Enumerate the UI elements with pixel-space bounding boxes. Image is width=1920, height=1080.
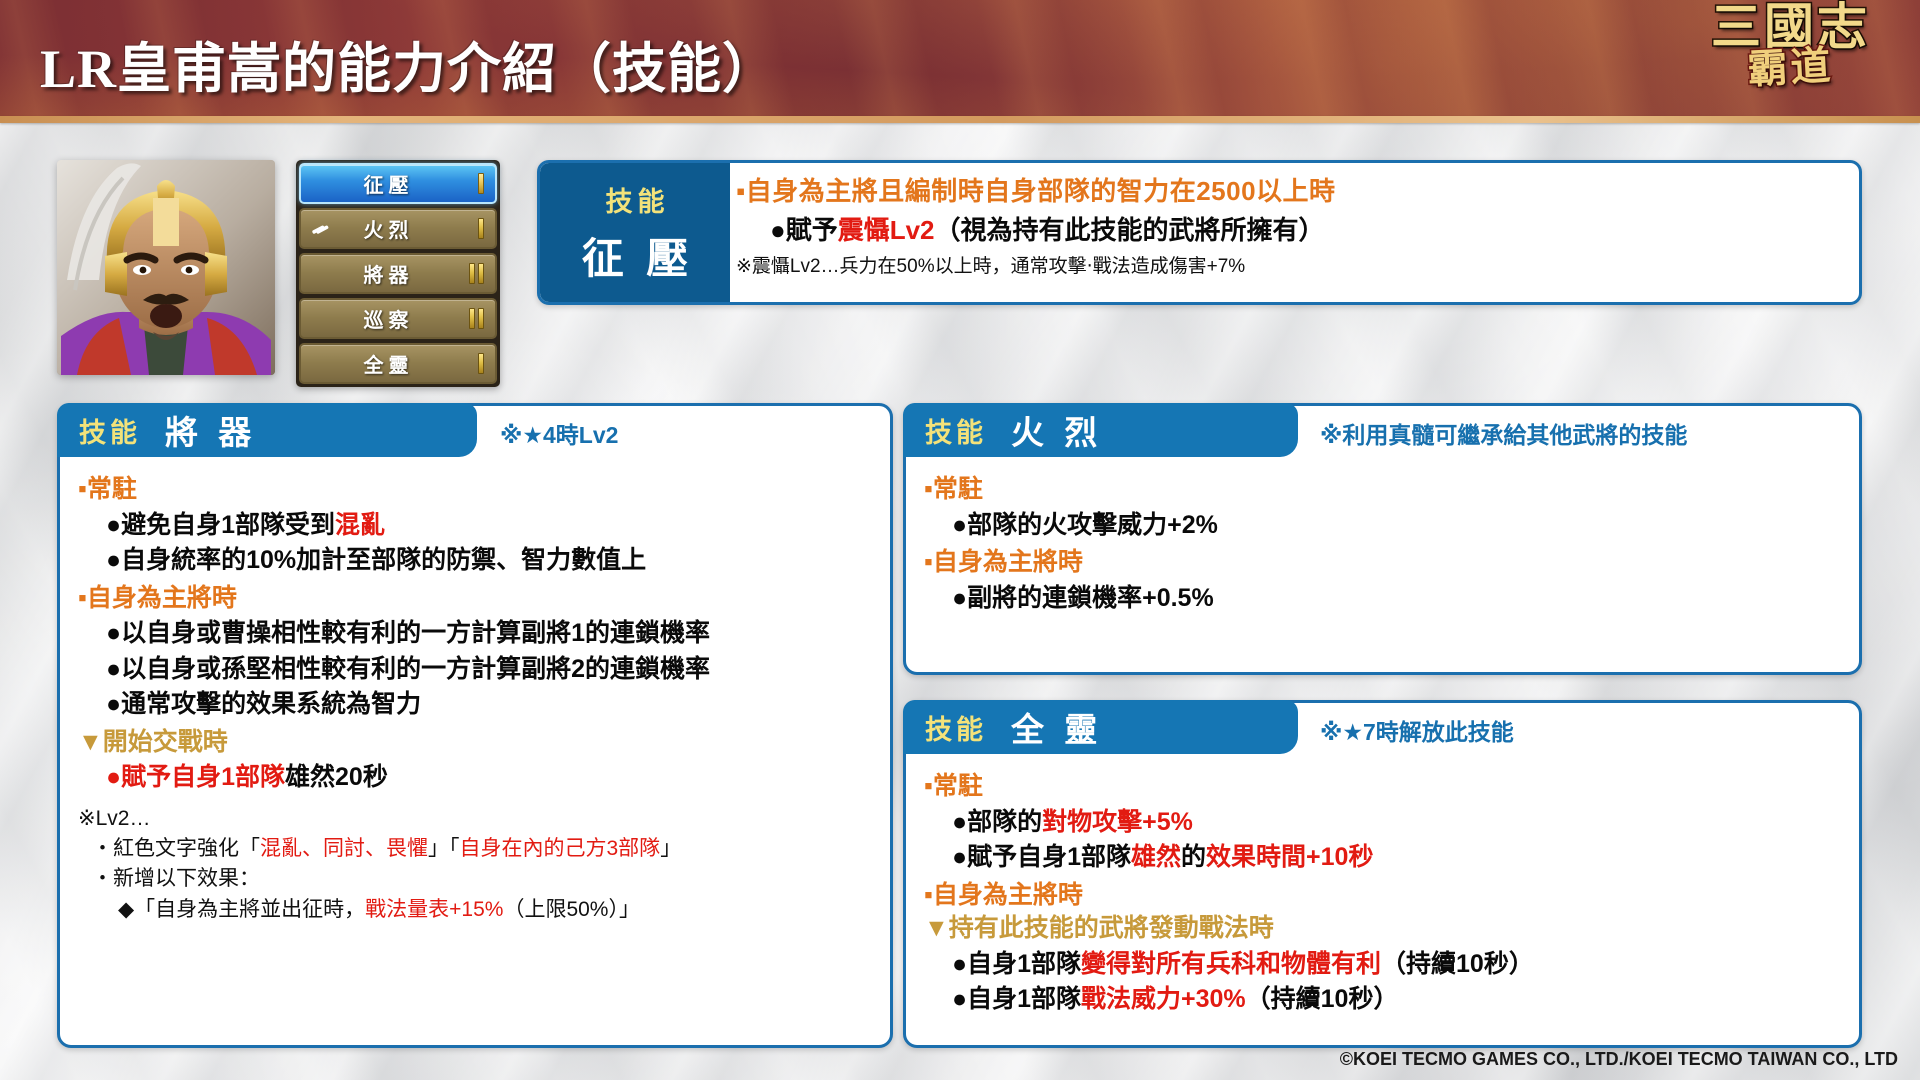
skill-list-item-zhengya[interactable]: 征壓 <box>299 163 497 204</box>
character-portrait <box>57 160 275 375</box>
section-header-kaishi: ▼開始交戰時 <box>78 726 876 759</box>
effect-item: ●部隊的火攻擊威力+2% <box>952 509 1845 542</box>
lv2-note-block: ※Lv2… ・紅色文字強化「混亂、同討、畏懼」「自身在內的己方3部隊」 ・新增以… <box>78 804 876 926</box>
skill-list-item-huolie[interactable]: 火烈 <box>299 208 497 249</box>
skill-level-indicator <box>469 255 484 292</box>
skill-list-item-label: 征壓 <box>301 169 495 198</box>
effect-text: （持續10秒） <box>1246 985 1399 1013</box>
skill-note-jiangqi: ※★4時Lv2 <box>500 416 618 450</box>
featured-skill-keyword: 技能 <box>601 180 670 219</box>
skill-list-item-label: 巡察 <box>301 304 495 333</box>
skill-name: 全 靈 <box>1005 703 1103 751</box>
skill-list-item-label: 將器 <box>301 259 495 288</box>
skill-card-jiangqi: 技能 將 器 ※★4時Lv2 ▪常駐 ●避免自身1部隊受到混亂 ●自身統率的10… <box>57 403 893 1048</box>
skill-note-huolie: ※利用真髓可繼承給其他武將的技能 <box>1320 416 1687 450</box>
effect-suffix: （視為持有此技能的武將所擁有） <box>935 215 1325 245</box>
skill-card-header-quanling: 技能 全 靈 <box>903 700 1298 754</box>
level-bar <box>469 308 475 329</box>
section-header-changzhu: ▪常駐 <box>924 770 1845 803</box>
effect-highlight: 效果時間+10秒 <box>1206 843 1373 871</box>
skill-card-header-jiangqi: 技能 將 器 <box>57 403 477 457</box>
section-header-zhujiang: ▪自身為主將時 <box>924 879 1845 912</box>
effect-highlight: 混亂 <box>335 511 385 539</box>
page-title: LR皇甫嵩的能力介紹（技能） <box>40 24 777 103</box>
effect-item: ●賦予自身1部隊雄然的效果時間+10秒 <box>952 841 1845 874</box>
skill-card-header-huolie: 技能 火 烈 <box>903 403 1298 457</box>
featured-skill-name: 征 壓 <box>576 225 695 286</box>
featured-skill-body: ▪自身為主將且編制時自身部隊的智力在2500以上時 ●賦予震懾Lv2（視為持有此… <box>736 163 1849 302</box>
lv2-note-line: ◆「自身為主將並出征時，戰法量表+15%（上限50%）」 <box>118 895 876 925</box>
game-logo: 三國志 霸道 <box>1683 2 1898 122</box>
effect-text: （持續10秒） <box>1381 950 1534 978</box>
effect-text: ●部隊的 <box>952 808 1042 836</box>
copyright-notice: ©KOEI TECMO GAMES CO., LTD./KOEI TECMO T… <box>1340 1049 1898 1070</box>
note-highlight: 混亂、同討、畏懼 <box>260 837 428 860</box>
effect-highlight: ●賦予自身1部隊 <box>106 763 285 791</box>
portrait-artwork <box>57 160 275 375</box>
section-header-zhujiang: ▪自身為主將時 <box>78 582 876 615</box>
header-gold-divider <box>0 116 1920 123</box>
note-text: ◆「自身為主將並出征時， <box>118 898 365 921</box>
skill-list[interactable]: 征壓 火烈 將器 巡察 全靈 <box>296 160 500 387</box>
effect-highlight: 對物攻擊+5% <box>1042 808 1193 836</box>
effect-item: ●通常攻擊的效果系統為智力 <box>106 688 876 721</box>
note-highlight: 自身在內的己方3部隊 <box>460 837 661 860</box>
skill-body-jiangqi: ▪常駐 ●避免自身1部隊受到混亂 ●自身統率的10%加計至部隊的防禦、智力數值上… <box>78 468 876 925</box>
note-text: （上限50%）」 <box>503 898 640 921</box>
effect-text: 的 <box>1181 843 1206 871</box>
skill-card-huolie: 技能 火 烈 ※利用真髓可繼承給其他武將的技能 ▪常駐 ●部隊的火攻擊威力+2%… <box>903 403 1862 675</box>
effect-item: ●副將的連鎖機率+0.5% <box>952 582 1845 615</box>
effect-item: ●以自身或孫堅相性較有利的一方計算副將2的連鎖機率 <box>106 653 876 686</box>
skill-level-indicator <box>478 345 484 382</box>
featured-skill-header: 技能 征 壓 <box>540 163 730 302</box>
effect-item: ●避免自身1部隊受到混亂 <box>106 509 876 542</box>
skill-level-indicator <box>478 165 484 202</box>
effect-item: ●部隊的對物攻擊+5% <box>952 806 1845 839</box>
lv2-note-title: ※Lv2… <box>78 804 876 834</box>
effect-highlight: 雄然 <box>1131 843 1181 871</box>
skill-keyword: 技能 <box>79 411 141 450</box>
effect-text: ●避免自身1部隊受到 <box>106 511 335 539</box>
skill-name: 將 器 <box>159 406 257 454</box>
note-highlight: 戰法量表+15% <box>365 898 503 921</box>
skill-list-item-label: 全靈 <box>301 349 495 378</box>
level-bar <box>469 263 475 284</box>
level-bar <box>478 263 484 284</box>
note-text: 」 <box>660 837 681 860</box>
effect-highlight: 震懾Lv2 <box>838 215 935 245</box>
effect-text: ●賦予自身1部隊 <box>952 843 1131 871</box>
note-text: 」「 <box>428 837 460 860</box>
skill-name: 火 烈 <box>1005 406 1103 454</box>
section-header-zhujiang: ▪自身為主將時 <box>924 546 1845 579</box>
skill-level-indicator <box>478 210 484 247</box>
effect-text: ●自身1部隊 <box>952 985 1081 1013</box>
effect-item: ●賦予自身1部隊雄然20秒 <box>106 761 876 794</box>
skill-list-item-quanling[interactable]: 全靈 <box>299 343 497 384</box>
effect-item: ●自身1部隊戰法威力+30%（持續10秒） <box>952 983 1845 1016</box>
level-bar <box>478 173 484 194</box>
skill-keyword: 技能 <box>925 708 987 747</box>
lv2-note-line: ・新增以下效果： <box>92 864 876 894</box>
level-bar <box>478 353 484 374</box>
lv2-note-line: ・紅色文字強化「混亂、同討、畏懼」「自身在內的己方3部隊」 <box>92 834 876 864</box>
skill-card-quanling: 技能 全 靈 ※★7時解放此技能 ▪常駐 ●部隊的對物攻擊+5% ●賦予自身1部… <box>903 700 1862 1048</box>
effect-prefix: ●賦予 <box>770 215 838 245</box>
effect-highlight: 變得對所有兵科和物體有利 <box>1081 950 1381 978</box>
effect-highlight: 戰法威力+30% <box>1081 985 1246 1013</box>
effect-item: ●以自身或曹操相性較有利的一方計算副將1的連鎖機率 <box>106 617 876 650</box>
inheritable-icon <box>311 222 333 238</box>
featured-skill-footnote: ※震懾Lv2…兵力在50%以上時，通常攻擊‧戰法造成傷害+7% <box>736 255 1849 280</box>
level-bar <box>478 308 484 329</box>
featured-skill-condition: ▪自身為主將且編制時自身部隊的智力在2500以上時 <box>736 175 1849 209</box>
effect-text: 雄然20秒 <box>285 763 388 791</box>
effect-text: ●自身1部隊 <box>952 950 1081 978</box>
skill-note-quanling: ※★7時解放此技能 <box>1320 713 1514 747</box>
skill-list-item-xuncha[interactable]: 巡察 <box>299 298 497 339</box>
skill-body-huolie: ▪常駐 ●部隊的火攻擊威力+2% ▪自身為主將時 ●副將的連鎖機率+0.5% <box>924 468 1845 614</box>
section-header-changzhu: ▪常駐 <box>78 473 876 506</box>
skill-list-item-jiangqi[interactable]: 將器 <box>299 253 497 294</box>
section-header-changzhu: ▪常駐 <box>924 473 1845 506</box>
effect-item: ●自身1部隊變得對所有兵科和物體有利（持續10秒） <box>952 948 1845 981</box>
skill-keyword: 技能 <box>925 411 987 450</box>
section-header-fadong: ▼持有此技能的武將發動戰法時 <box>924 912 1845 945</box>
featured-skill-effect: ●賦予震懾Lv2（視為持有此技能的武將所擁有） <box>770 214 1849 248</box>
effect-item: ●自身統率的10%加計至部隊的防禦、智力數值上 <box>106 544 876 577</box>
note-text: ・紅色文字強化「 <box>92 837 260 860</box>
skill-level-indicator <box>469 300 484 337</box>
level-bar <box>478 218 484 239</box>
featured-skill-card: 技能 征 壓 ▪自身為主將且編制時自身部隊的智力在2500以上時 ●賦予震懾Lv… <box>537 160 1862 305</box>
skill-body-quanling: ▪常駐 ●部隊的對物攻擊+5% ●賦予自身1部隊雄然的效果時間+10秒 ▪自身為… <box>924 765 1845 1016</box>
